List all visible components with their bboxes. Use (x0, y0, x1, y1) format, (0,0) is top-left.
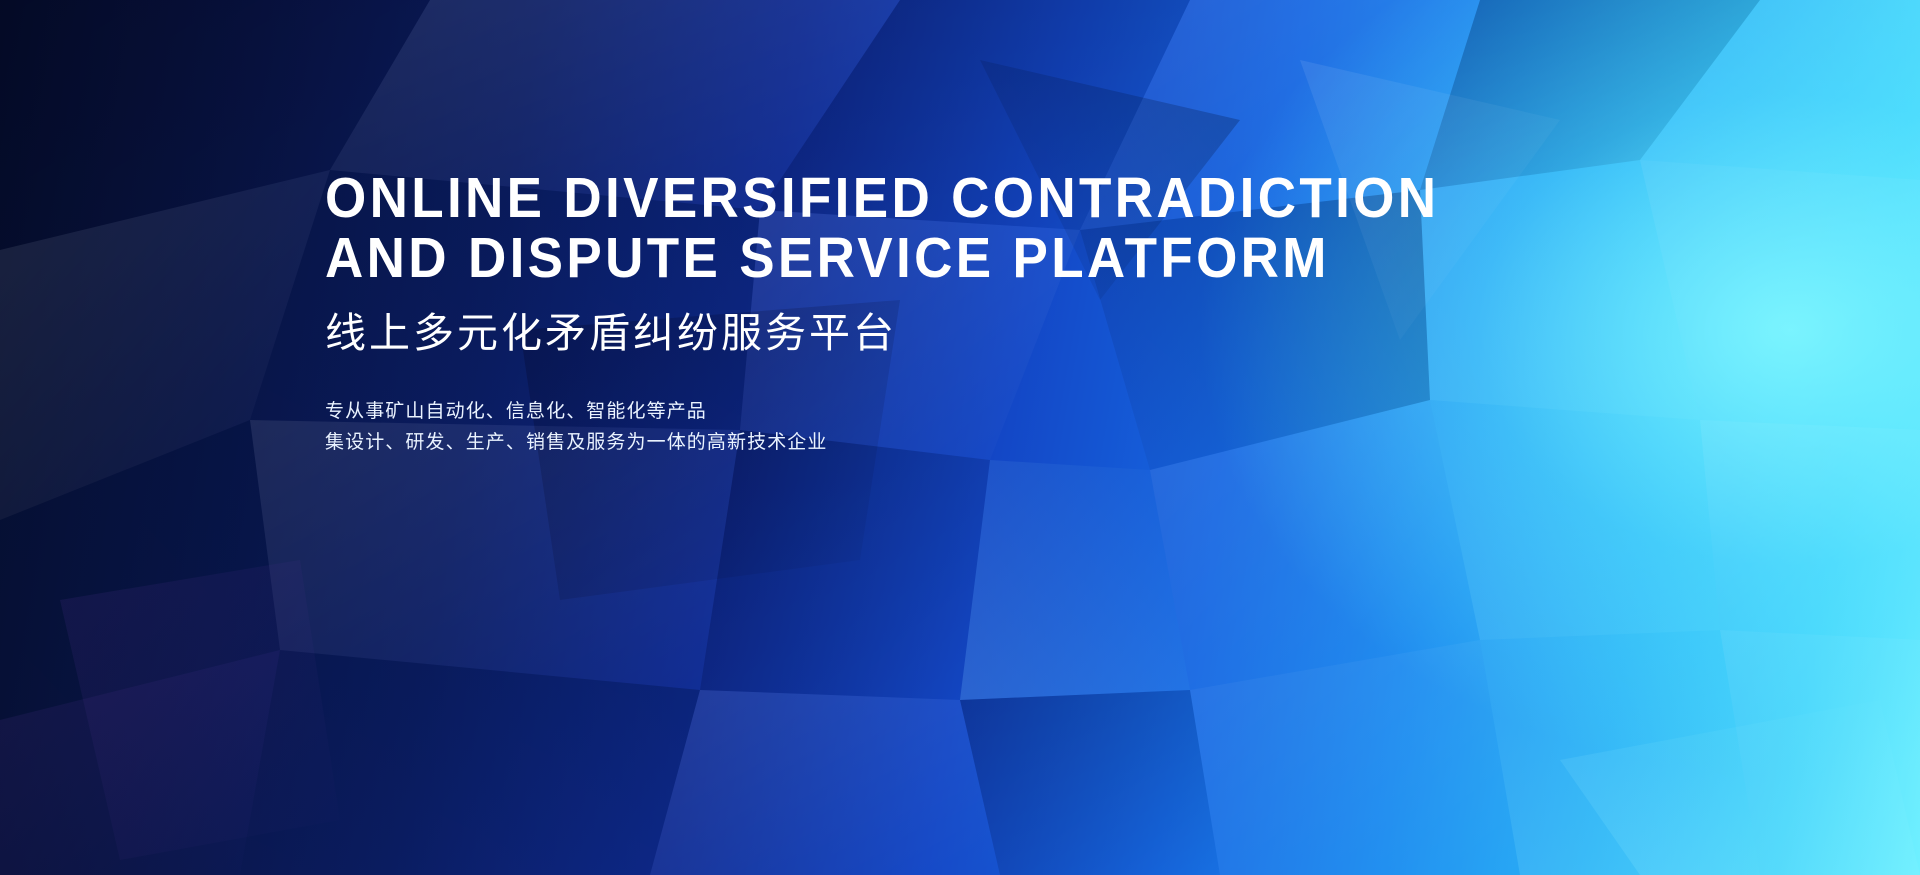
hero-content: ONLINE DIVERSIFIED CONTRADICTION AND DIS… (325, 168, 1725, 458)
page-description: 专从事矿山自动化、信息化、智能化等产品 集设计、研发、生产、销售及服务为一体的高… (325, 396, 1725, 458)
page-description-line-1: 专从事矿山自动化、信息化、智能化等产品 (325, 396, 1725, 427)
page-description-line-2: 集设计、研发、生产、销售及服务为一体的高新技术企业 (325, 427, 1725, 458)
hero-banner: ONLINE DIVERSIFIED CONTRADICTION AND DIS… (0, 0, 1920, 875)
page-subtitle: 线上多元化矛盾纠纷服务平台 (325, 308, 1725, 358)
page-title: ONLINE DIVERSIFIED CONTRADICTION AND DIS… (325, 168, 1627, 288)
page-title-line-1: ONLINE DIVERSIFIED CONTRADICTION (325, 168, 1627, 228)
facet-group-lower (0, 630, 1920, 875)
page-title-line-2: AND DISPUTE SERVICE PLATFORM (325, 228, 1627, 288)
